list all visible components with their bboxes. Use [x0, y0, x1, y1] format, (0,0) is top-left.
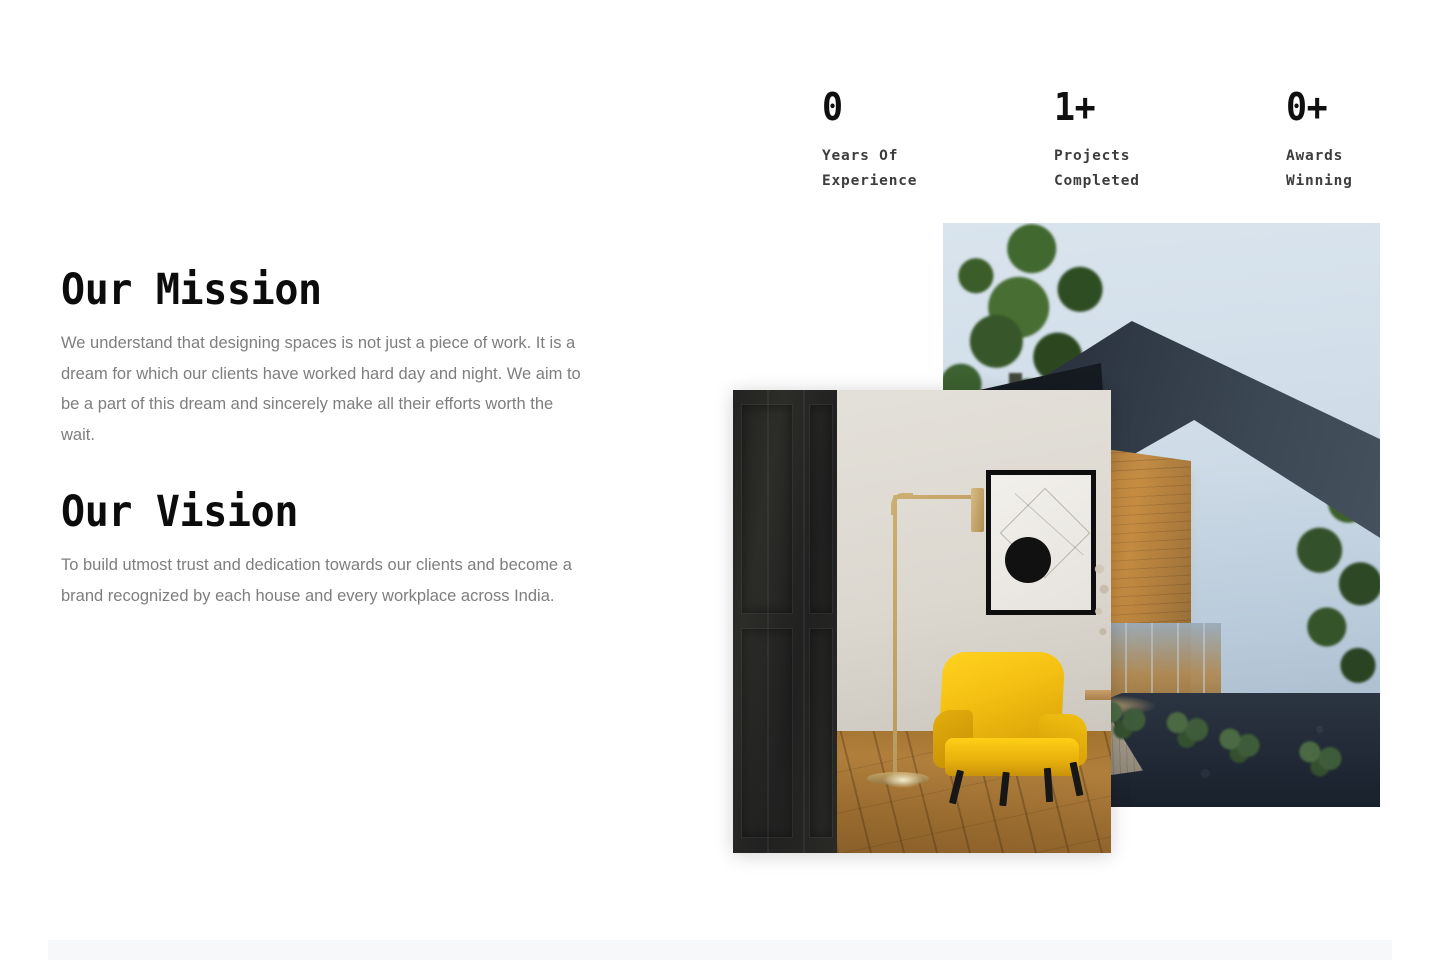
- exterior-shrub-3: [1215, 723, 1265, 763]
- our-mission-body: We understand that designing spaces is n…: [61, 328, 591, 450]
- stat-label-years-of-experience: Years Of Experience: [822, 144, 1054, 195]
- door-seam-2: [803, 390, 805, 853]
- our-mission-heading: Our Mission: [61, 266, 582, 314]
- exterior-shrub-2: [1161, 705, 1215, 749]
- stat-value-years-of-experience: 0: [822, 88, 1035, 126]
- artwork-black-circle: [1005, 537, 1051, 583]
- door-panel-bottom-right: [809, 628, 833, 838]
- interior-living-room-photo: [733, 390, 1111, 853]
- armchair-seat-cushion: [945, 738, 1079, 776]
- stats-row: 0 Years Of Experience 1+ Projects Comple…: [822, 88, 1422, 195]
- mission-block: Our Mission We understand that designing…: [61, 266, 621, 450]
- bottom-section-band: [48, 940, 1392, 960]
- stat-label-awards-winning: Awards Winning: [1286, 144, 1353, 195]
- artwork-mat: [991, 475, 1091, 610]
- vision-block: Our Vision To build utmost trust and ded…: [61, 488, 621, 611]
- armchair-leg-back-right: [1070, 762, 1084, 797]
- door-panel-top-right: [809, 404, 833, 614]
- interior-dried-branch: [1093, 558, 1109, 650]
- stat-projects-completed: 1+ Projects Completed: [1054, 88, 1286, 195]
- stat-value-projects-completed: 1+: [1054, 88, 1267, 126]
- exterior-shrub-5: [1293, 735, 1349, 777]
- image-collage: [733, 223, 1393, 863]
- mission-vision-copy: Our Mission We understand that designing…: [61, 266, 621, 611]
- door-panel-top-left: [741, 404, 793, 614]
- floor-lamp-stem: [893, 495, 897, 778]
- interior-dark-door: [733, 390, 837, 853]
- yellow-armchair: [927, 652, 1091, 797]
- door-panel-bottom-left: [741, 628, 793, 838]
- floor-lamp-glow: [883, 772, 923, 788]
- stat-years-of-experience: 0 Years Of Experience: [822, 88, 1054, 195]
- our-vision-heading: Our Vision: [61, 488, 582, 536]
- floor-lamp-shade: [971, 488, 984, 532]
- framed-artwork: [986, 470, 1096, 615]
- about-section-page: 0 Years Of Experience 1+ Projects Comple…: [0, 0, 1440, 960]
- stat-label-projects-completed: Projects Completed: [1054, 144, 1286, 195]
- our-vision-body: To build utmost trust and dedication tow…: [61, 550, 591, 611]
- stat-awards-winning: 0+ Awards Winning: [1286, 88, 1353, 195]
- stat-value-awards-winning: 0+: [1286, 88, 1347, 126]
